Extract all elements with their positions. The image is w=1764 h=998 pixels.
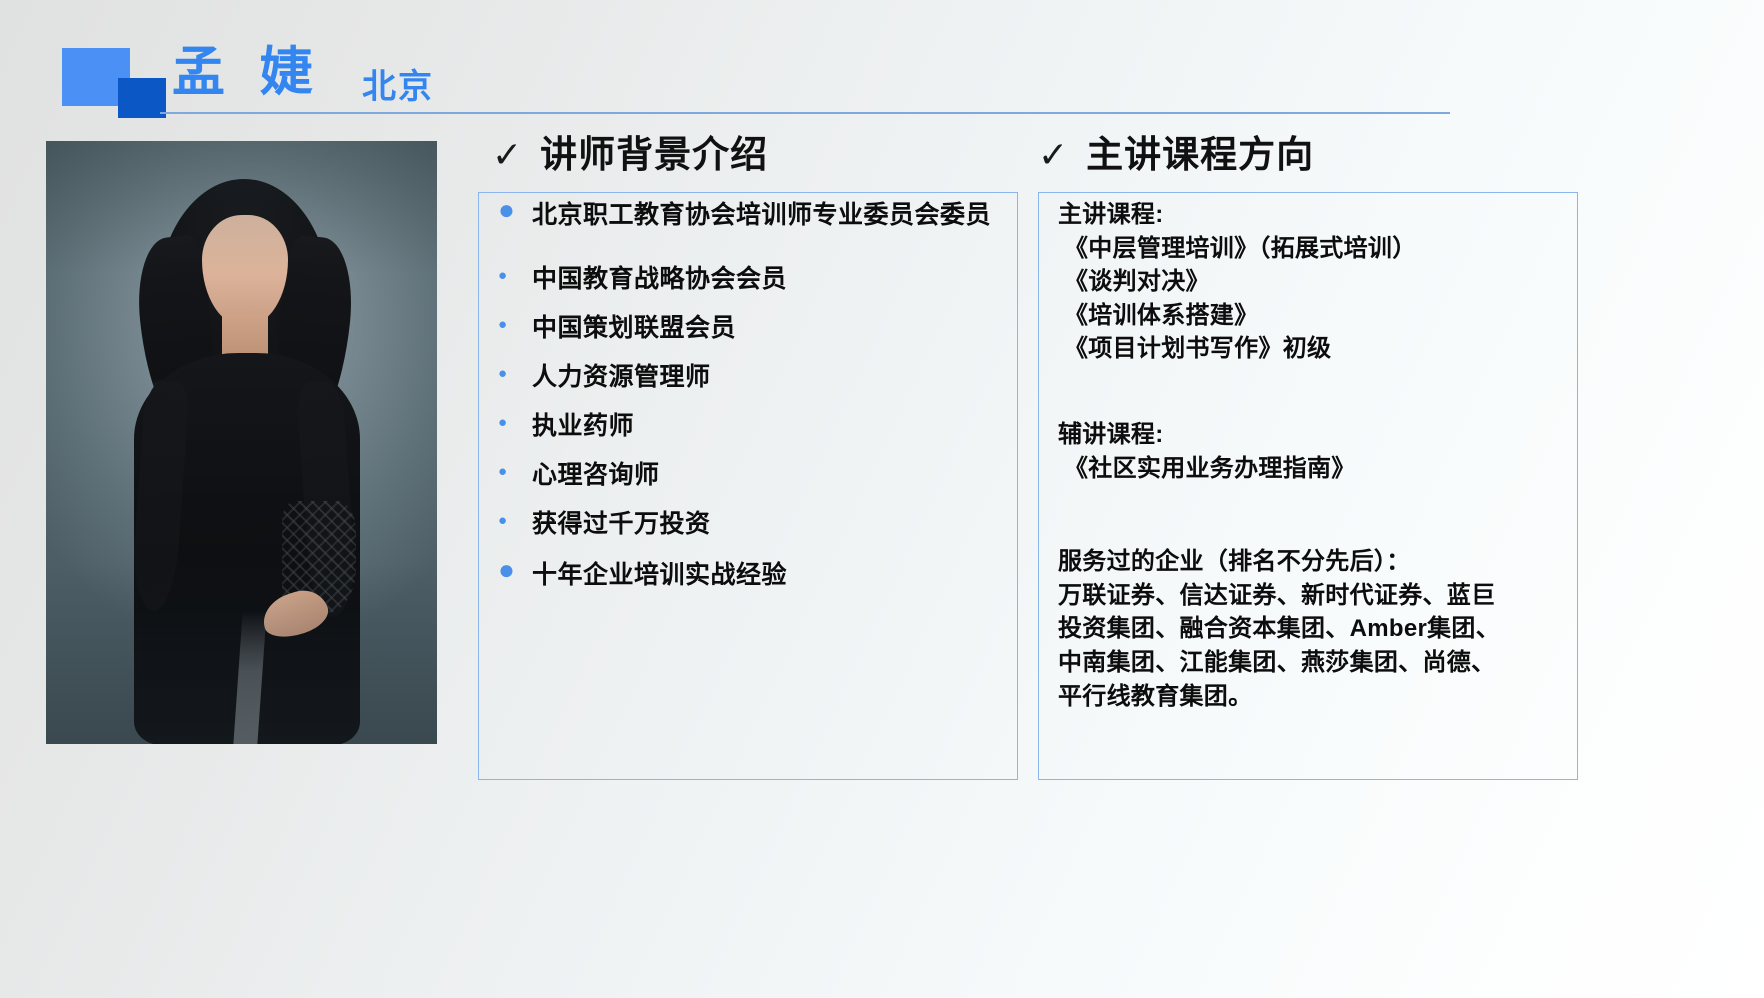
list-item: ● 中国策划联盟会员 <box>498 315 1018 359</box>
main-course-item: 《谈判对决》 <box>1064 265 1568 299</box>
aux-course-item: 《社区实用业务办理指南》 <box>1064 452 1568 486</box>
clients-label: 服务过的企业（排名不分先后）： <box>1058 545 1568 579</box>
list-item: ● 获得过千万投资 <box>498 511 1018 555</box>
right-section-heading: ✓ 主讲课程方向 <box>1038 136 1314 173</box>
bullet-icon: ● <box>498 415 532 430</box>
bullet-icon: ● <box>498 366 532 381</box>
clients-line: 投资集团、融合资本集团、Amber集团、 <box>1058 612 1568 646</box>
list-item: ● 心理咨询师 <box>498 462 1018 506</box>
list-item-label: 执业药师 <box>532 413 634 441</box>
two-squares-logo-icon <box>62 48 170 108</box>
bullet-icon: ● <box>498 556 532 584</box>
right-section-title: 主讲课程方向 <box>1086 136 1314 173</box>
list-item-label: 获得过千万投资 <box>532 511 711 539</box>
main-courses-label: 主讲课程: <box>1058 198 1568 232</box>
clients-line: 万联证券、信达证券、新时代证券、蓝巨 <box>1058 579 1568 613</box>
clients-line: 中南集团、江能集团、燕莎集团、尚德、 <box>1058 646 1568 680</box>
left-section-title: 讲师背景介绍 <box>540 136 768 173</box>
aux-courses-label: 辅讲课程: <box>1058 418 1568 452</box>
main-course-item: 《培训体系搭建》 <box>1064 299 1568 333</box>
list-item: ● 人力资源管理师 <box>498 364 1018 408</box>
instructor-city: 北京 <box>362 70 434 104</box>
clients-line: 平行线教育集团。 <box>1058 680 1568 714</box>
list-item: ● 十年企业培训实战经验 <box>498 560 1018 604</box>
instructor-portrait-photo <box>46 141 437 744</box>
portrait-vignette <box>46 141 437 744</box>
left-section-heading: ✓ 讲师背景介绍 <box>492 136 768 173</box>
list-item: ● 中国教育战略协会会员 <box>498 266 1018 310</box>
check-icon: ✓ <box>1038 137 1068 173</box>
credentials-list: ● 北京职工教育协会培训师专业委员会委员 ● 中国教育战略协会会员 ● 中国策划… <box>498 200 1018 609</box>
list-item-label: 中国策划联盟会员 <box>532 315 736 343</box>
bullet-icon: ● <box>498 513 532 528</box>
main-course-item: 《项目计划书写作》初级 <box>1064 332 1568 366</box>
bullet-icon: ● <box>498 464 532 479</box>
list-item-label: 人力资源管理师 <box>532 364 711 392</box>
block-spacer <box>1058 366 1568 418</box>
block-spacer <box>1058 485 1568 545</box>
instructor-name: 孟 婕 <box>172 46 323 99</box>
bullet-icon: ● <box>498 317 532 332</box>
main-course-item: 《中层管理培训》（拓展式培训） <box>1064 232 1568 266</box>
list-item: ● 北京职工教育协会培训师专业委员会委员 <box>498 200 1018 244</box>
list-item-label: 北京职工教育协会培训师专业委员会委员 <box>532 202 991 230</box>
list-item-label: 心理咨询师 <box>532 462 660 490</box>
course-directions-block: 主讲课程: 《中层管理培训》（拓展式培训） 《谈判对决》 《培训体系搭建》 《项… <box>1058 198 1568 713</box>
slide-canvas: 孟 婕 北京 ✓ 讲师背景介绍 ✓ 主讲课程方向 ● 北京职工教育协会培训师专业… <box>0 0 1764 998</box>
list-item-label: 中国教育战略协会会员 <box>532 266 787 294</box>
bullet-icon: ● <box>498 196 532 224</box>
list-item: ● 执业药师 <box>498 413 1018 457</box>
logo-square-dark <box>118 78 166 118</box>
check-icon: ✓ <box>492 137 522 173</box>
header-divider <box>160 112 1450 114</box>
bullet-icon: ● <box>498 268 532 283</box>
list-item-label: 十年企业培训实战经验 <box>532 562 787 590</box>
